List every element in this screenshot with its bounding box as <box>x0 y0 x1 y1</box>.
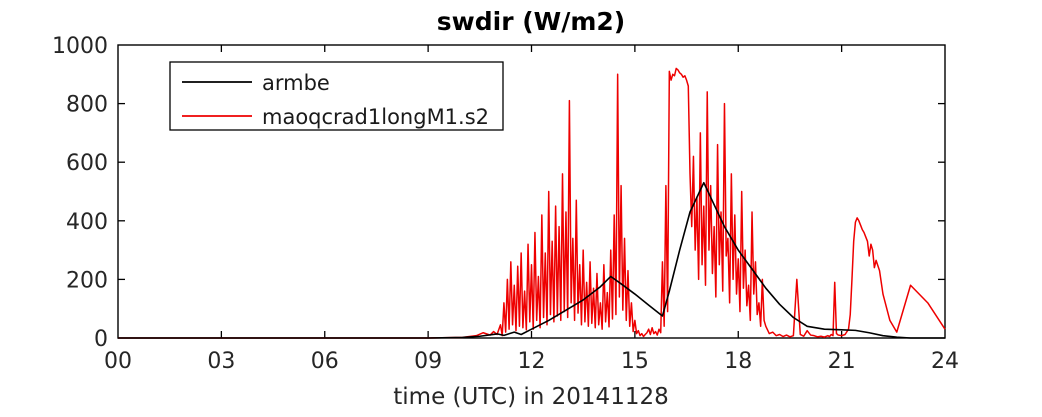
x-tick-label: 12 <box>518 349 546 374</box>
x-tick-label: 15 <box>621 349 649 374</box>
y-axis-tick-labels: 02004006008001000 <box>52 34 108 352</box>
x-tick-label: 18 <box>724 349 752 374</box>
x-tick-label: 00 <box>104 349 132 374</box>
series-line-armbe <box>118 183 945 338</box>
x-tick-label: 09 <box>414 349 442 374</box>
y-tick-label: 1000 <box>52 34 108 59</box>
y-tick-label: 0 <box>94 327 108 352</box>
x-tick-label: 24 <box>931 349 959 374</box>
x-tick-label: 06 <box>311 349 339 374</box>
x-axis-label: time (UTC) in 20141128 <box>393 384 668 410</box>
y-tick-label: 400 <box>66 210 108 235</box>
y-tick-label: 800 <box>66 93 108 118</box>
chart-canvas: swdir (W/m2) 000306091215182124 02004006… <box>0 0 1042 417</box>
figure-container: swdir (W/m2) 000306091215182124 02004006… <box>0 0 1042 417</box>
y-tick-label: 200 <box>66 268 108 293</box>
legend-label-armbe: armbe <box>262 71 330 95</box>
x-axis-tick-labels: 000306091215182124 <box>104 349 959 374</box>
y-tick-label: 600 <box>66 151 108 176</box>
legend-label-maoqcrad1longM1.s2: maoqcrad1longM1.s2 <box>262 105 489 129</box>
x-tick-label: 03 <box>207 349 235 374</box>
x-tick-label: 21 <box>828 349 856 374</box>
chart-title: swdir (W/m2) <box>437 7 625 36</box>
chart-legend[interactable]: armbemaoqcrad1longM1.s2 <box>170 62 503 130</box>
